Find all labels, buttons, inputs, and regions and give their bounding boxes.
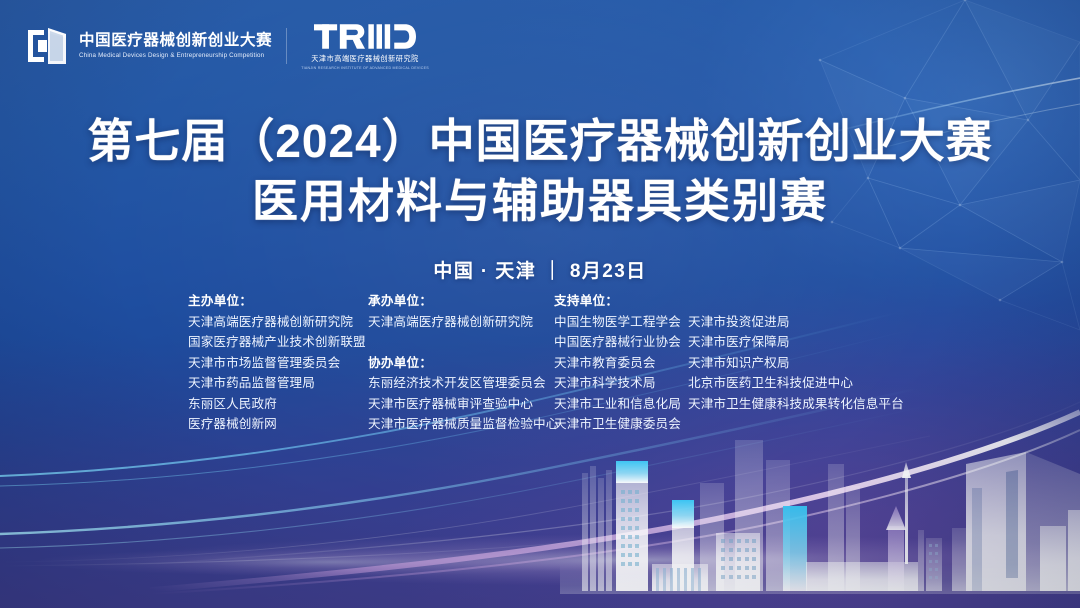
organizer-item: 中国生物医学工程学会 [554, 312, 688, 333]
organizer-column-undertaker: 承办单位： 天津高端医疗器械创新研究院 协办单位： 东丽经济技术开发区管理委员会… [368, 291, 554, 435]
organizer-item: 国家医疗器械产业技术创新联盟 [188, 332, 368, 353]
triid-name-cn: 天津市高端医疗器械创新研究院 [311, 54, 419, 64]
event-date-location: 中国 · 天津 ｜ 8月23日 [0, 256, 1080, 283]
competition-name-cn: 中国医疗器械创新创业大赛 [79, 32, 272, 50]
organizer-item: 医疗器械创新网 [188, 414, 368, 435]
title-line-2: 医用材料与辅助器具类别赛 [0, 172, 1080, 232]
organizer-item: 天津高端医疗器械创新研究院 [188, 312, 368, 333]
open-door-logo-icon [26, 26, 70, 66]
organizer-column-supporter: 支持单位： 中国生物医学工程学会 中国医疗器械行业协会 天津市教育委员会 天津市… [554, 291, 688, 435]
competition-name-en: China Medical Devices Design & Entrepren… [79, 52, 276, 60]
header-logos: 中国医疗器械创新创业大赛 China Medical Devices Desig… [26, 22, 429, 70]
event-title: 第七届（2024）中国医疗器械创新创业大赛 医用材料与辅助器具类别赛 [0, 112, 1080, 232]
organizer-item: 天津市医疗器械质量监督检验中心 [368, 414, 554, 435]
column-spacer [368, 332, 554, 353]
title-line-1: 第七届（2024）中国医疗器械创新创业大赛 [0, 112, 1080, 172]
organizer-heading: 协办单位： [368, 353, 554, 374]
organizer-heading: 承办单位： [368, 291, 554, 312]
organizer-item: 天津市知识产权局 [688, 353, 898, 374]
organizer-item: 天津市教育委员会 [554, 353, 688, 374]
organizer-column-host: 主办单位： 天津高端医疗器械创新研究院 国家医疗器械产业技术创新联盟 天津市市场… [188, 291, 368, 435]
organizer-item: 天津市卫生健康科技成果转化信息平台 [688, 394, 898, 415]
triid-logo: 天津市高端医疗器械创新研究院 TIANJIN RESEARCH INSTITUT… [301, 22, 429, 70]
organizer-item: 中国医疗器械行业协会 [554, 332, 688, 353]
event-banner: 中国医疗器械创新创业大赛 China Medical Devices Desig… [0, 0, 1080, 608]
organizer-heading: 支持单位： [554, 291, 688, 312]
organizer-columns: 主办单位： 天津高端医疗器械创新研究院 国家医疗器械产业技术创新联盟 天津市市场… [188, 291, 898, 435]
logo-divider [286, 28, 287, 64]
organizer-item: 天津市投资促进局 [688, 312, 898, 333]
organizer-item: 天津市医疗器械审评查验中心 [368, 394, 554, 415]
organizer-item: 天津市科学技术局 [554, 373, 688, 394]
organizer-item: 天津市药品监督管理局 [188, 373, 368, 394]
competition-logo-text: 中国医疗器械创新创业大赛 China Medical Devices Desig… [79, 32, 272, 59]
organizer-column-supporter-continued: 天津市投资促进局 天津市医疗保障局 天津市知识产权局 北京市医药卫生科技促进中心… [688, 291, 898, 414]
organizer-item: 天津市工业和信息化局 [554, 394, 688, 415]
organizer-item: 东丽区人民政府 [188, 394, 368, 415]
organizer-item: 天津高端医疗器械创新研究院 [368, 312, 554, 333]
organizer-item: 天津市医疗保障局 [688, 332, 898, 353]
organizer-item: 北京市医药卫生科技促进中心 [688, 373, 898, 394]
organizer-item: 天津市卫生健康委员会 [554, 414, 688, 435]
triid-wordmark-icon [314, 22, 416, 51]
organizer-item: 东丽经济技术开发区管理委员会 [368, 373, 554, 394]
triid-name-en: TIANJIN RESEARCH INSTITUTE OF ADVANCED M… [301, 66, 429, 70]
organizer-item: 天津市市场监督管理委员会 [188, 353, 368, 374]
organizer-heading: 主办单位： [188, 291, 368, 312]
